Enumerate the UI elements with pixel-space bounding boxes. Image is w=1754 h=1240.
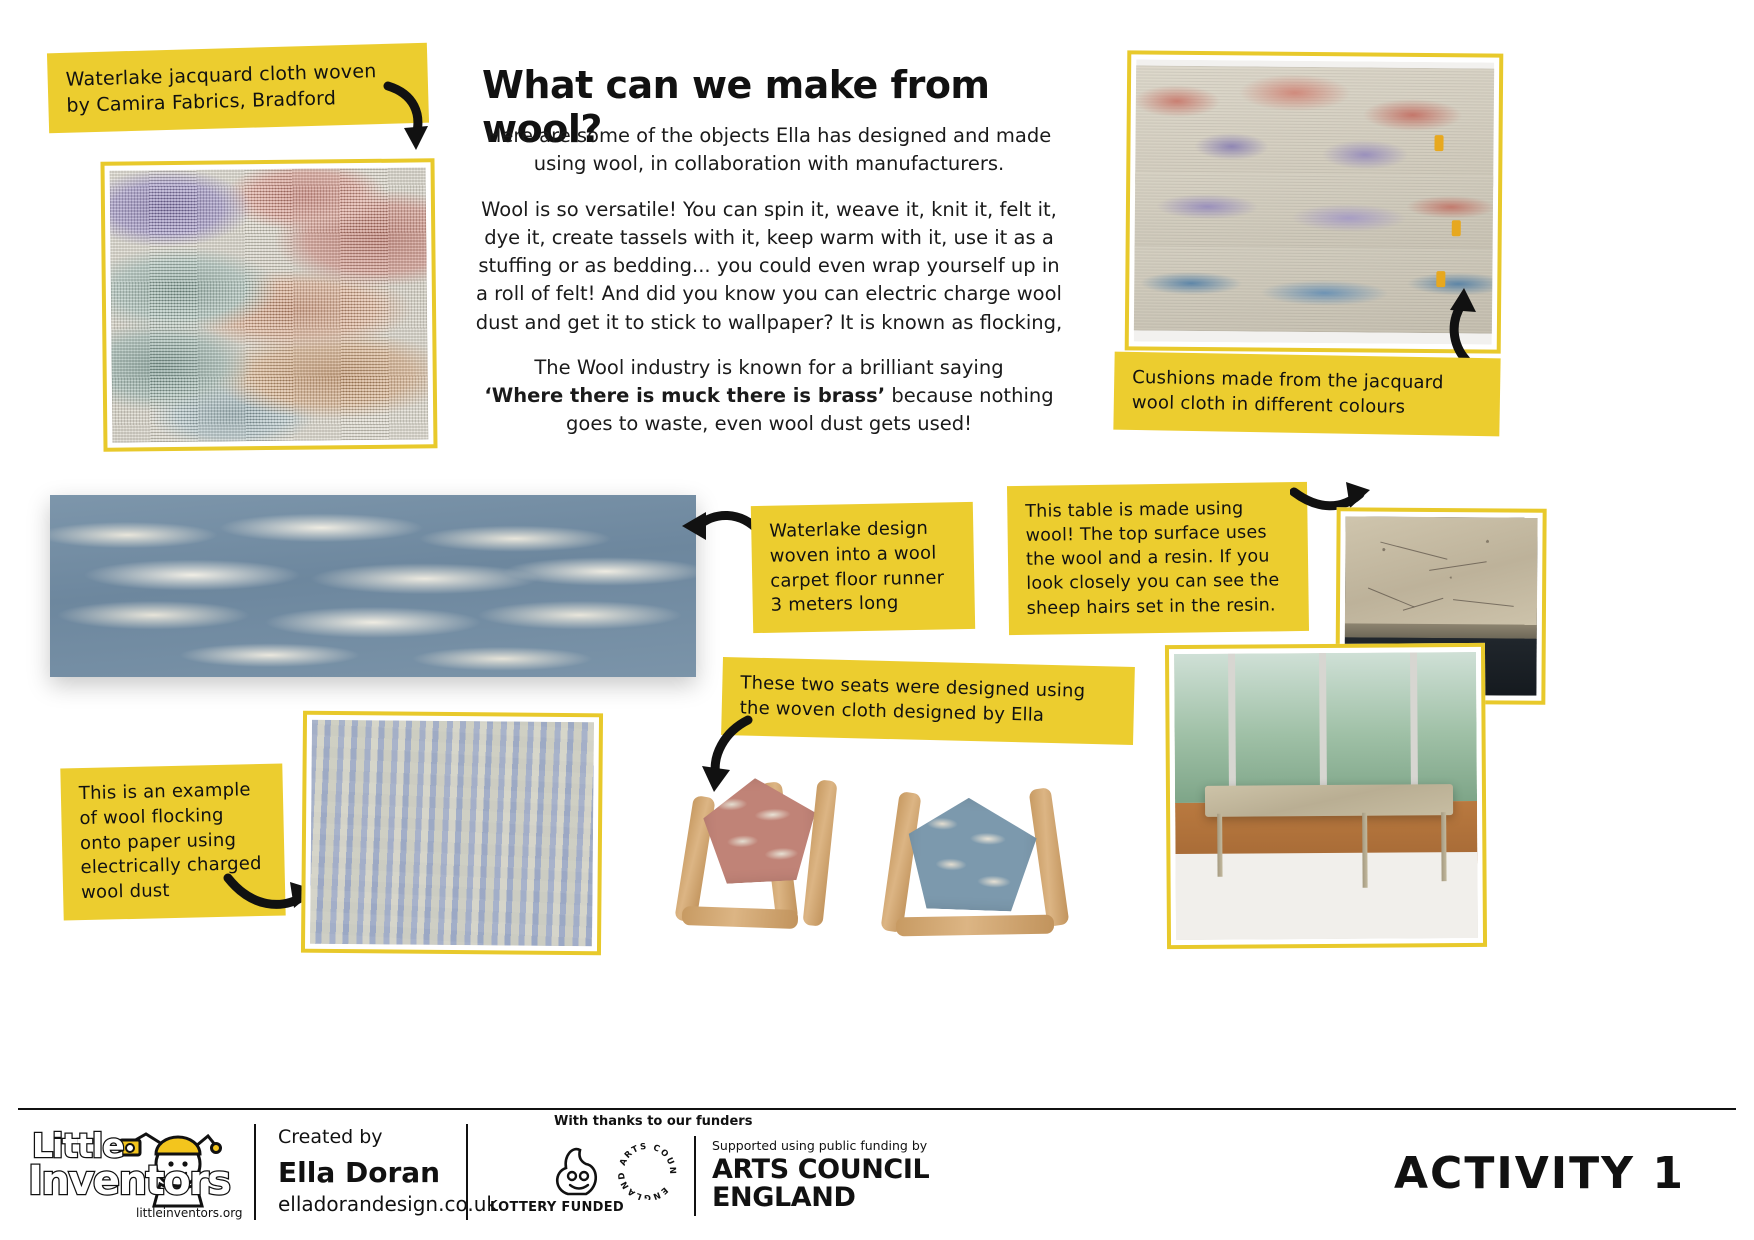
- lottery-fingers-icon: [548, 1142, 610, 1198]
- note-flocking: This is an example of wool flocking onto…: [60, 764, 285, 921]
- logo-url[interactable]: littleinventors.org: [136, 1206, 243, 1220]
- photo-cushions: [1125, 50, 1504, 353]
- lottery-funded-label: LOTTERY FUNDED: [490, 1200, 624, 1215]
- svg-text:ENGLAND: ENGLAND: [617, 1170, 670, 1200]
- note-cloth: Waterlake jacquard cloth woven by Camira…: [47, 43, 429, 134]
- svg-text:ARTS COUNCIL: ARTS COUNCIL: [616, 1140, 677, 1176]
- photo-jacquard-cloth: [100, 158, 437, 451]
- logo-word-inventors: Inventors: [28, 1158, 230, 1204]
- intro-paragraph-1: Here are some of the objects Ella has de…: [470, 122, 1068, 179]
- photo-table-in-room: [1165, 643, 1487, 949]
- footer-divider: [18, 1108, 1736, 1110]
- supported-funding-text: Supported using public funding by: [712, 1138, 927, 1153]
- footer-divider-3: [694, 1136, 696, 1216]
- arts-council-line-2: ENGLAND: [712, 1184, 929, 1212]
- arts-council-line-1: ARTS COUNCIL: [712, 1156, 929, 1184]
- note-seats: These two seats were designed using the …: [721, 657, 1135, 745]
- note-table: This table is made using wool! The top s…: [1007, 482, 1309, 635]
- intro-text: Here are some of the objects Ella has de…: [470, 122, 1068, 439]
- arts-council-wordmark: ARTS COUNCIL ENGLAND: [712, 1156, 929, 1211]
- saying-quote: ‘Where there is muck there is brass’: [484, 384, 885, 407]
- creator-url[interactable]: elladorandesign.co.uk: [278, 1192, 498, 1216]
- intro-paragraph-2: Wool is so versatile! You can spin it, w…: [470, 196, 1068, 337]
- photo-carpet-runner: [50, 495, 696, 677]
- photo-flocking-sample: [301, 711, 603, 956]
- activity-label: ACTIVITY 1: [1394, 1148, 1685, 1199]
- worksheet-page: Waterlake jacquard cloth woven by Camira…: [0, 0, 1754, 1240]
- created-by-label: Created by: [278, 1126, 383, 1148]
- creator-name: Ella Doran: [278, 1156, 440, 1189]
- note-cushions: Cushions made from the jacquard wool clo…: [1113, 352, 1500, 436]
- footer-divider-1: [254, 1124, 256, 1220]
- saying-lead: The Wool industry is known for a brillia…: [534, 356, 1003, 379]
- funders-label: With thanks to our funders: [554, 1114, 752, 1129]
- footer-divider-2: [466, 1124, 468, 1220]
- illustration-seats: [672, 758, 1142, 954]
- note-runner: Waterlake design woven into a wool carpe…: [751, 502, 975, 634]
- intro-paragraph-3: The Wool industry is known for a brillia…: [470, 354, 1068, 439]
- arts-council-ring-icon: ARTS COUNCIL ENGLAND: [616, 1140, 678, 1200]
- little-inventors-logo: Little Inventors littleinventors.org: [28, 1120, 238, 1224]
